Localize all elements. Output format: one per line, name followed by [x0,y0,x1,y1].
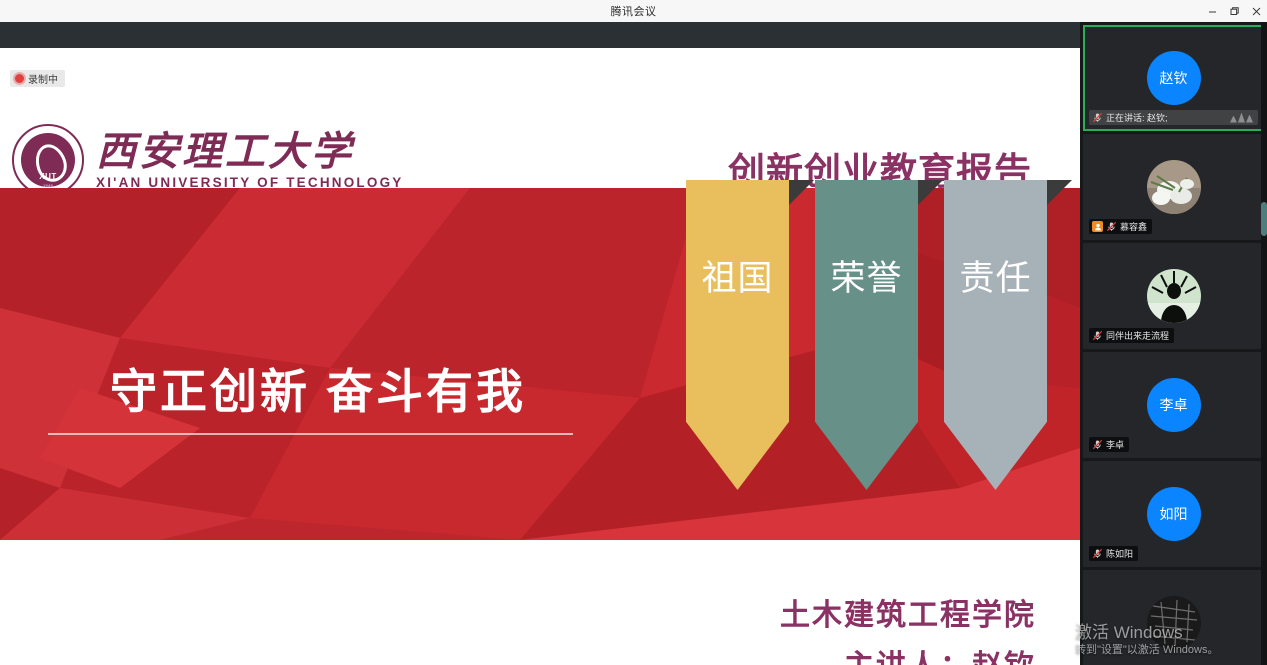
university-name-block: 西安理工大学 XI'AN UNIVERSITY OF TECHNOLOGY [96,131,403,190]
mic-muted-icon [1092,439,1103,450]
participant-label: 同伴出来走流程 [1106,329,1169,342]
participant-tile-partial[interactable] [1083,570,1264,665]
organization-name: 土木建筑工程学院 [780,590,1036,634]
participant-label: 正在讲话: 赵钦; [1106,111,1168,124]
avatar: 如阳 [1147,487,1201,541]
avatar-photo-dark [1147,596,1201,650]
avatar-photo-silhouette [1147,269,1201,323]
ribbon-label: 责任 [944,254,1047,305]
window-controls [1201,0,1267,22]
seal-year: 1949 [14,183,82,188]
participant-name-bar: 陈如阳 [1089,546,1138,561]
stage-top-strip [0,22,1080,48]
participant-tile-tongban[interactable]: 同伴出来走流程 [1083,243,1264,349]
presentation-slide: XUT 1949 西安理工大学 XI'AN UNIVERSITY OF TECH… [0,48,1080,665]
university-seal-icon: XUT 1949 [12,124,84,196]
shared-screen-stage[interactable]: 录制中 XUT 1949 西安理工大学 XI'AN UNIVERSITY OF … [0,22,1080,665]
ribbon-rongyu: 荣誉 [815,180,918,490]
university-name-cn: 西安理工大学 [96,131,403,173]
university-logo: XUT 1949 西安理工大学 XI'AN UNIVERSITY OF TECH… [12,124,403,196]
avatar-photo-flowers [1147,160,1201,214]
minimize-button[interactable] [1201,0,1223,22]
ribbon-body [686,180,789,490]
participant-filmstrip[interactable]: 赵钦 正在讲话: 赵钦; [1080,22,1267,665]
avatar: 赵钦 [1147,51,1201,105]
participant-label: 陈如阳 [1106,547,1133,560]
slogan-underline [48,433,573,435]
close-button[interactable] [1245,0,1267,22]
participant-label: 慕容鑫 [1120,220,1147,233]
participant-name-bar: 同伴出来走流程 [1089,328,1174,343]
avatar [1147,269,1201,323]
ribbon-body [815,180,918,490]
ribbon-body [944,180,1047,490]
ribbon-label: 祖国 [686,254,789,305]
recording-indicator: 录制中 [10,70,65,87]
ribbon-zeren: 责任 [944,180,1047,490]
avatar [1147,160,1201,214]
scrollbar-thumb[interactable] [1261,202,1267,236]
speaker-name: 主讲人：赵钦 [844,641,1036,665]
tencent-meeting-window: 腾讯会议 录制中 [0,0,1267,665]
window-title: 腾讯会议 [611,3,657,19]
participant-label: 李卓 [1106,438,1124,451]
slide-slogan: 守正创新 奋斗有我 [110,353,526,422]
participant-name-bar: 李卓 [1089,437,1129,452]
ribbon-label: 荣誉 [815,254,918,305]
slide-footer: 土木建筑工程学院 主讲人：赵钦 [0,540,1080,665]
mic-muted-icon [1106,221,1117,232]
host-badge-icon [1092,221,1103,232]
recording-label: 录制中 [28,71,58,86]
filmstrip-scrollbar[interactable] [1261,22,1267,665]
mic-muted-icon [1092,548,1103,559]
participant-tile-chenruyang[interactable]: 如阳 陈如阳 [1083,461,1264,567]
ribbon-zuguo: 祖国 [686,180,789,490]
participant-name-bar: 正在讲话: 赵钦; [1089,110,1258,125]
restore-button[interactable] [1223,0,1245,22]
participant-name-bar: 慕容鑫 [1089,219,1152,234]
participant-tile-murongxin[interactable]: 慕容鑫 [1083,134,1264,240]
window-title-bar: 腾讯会议 [0,0,1267,22]
record-dot-icon [15,74,24,83]
mic-muted-icon [1092,112,1103,123]
participant-tile-lizhuo[interactable]: 李卓 李卓 [1083,352,1264,458]
avatar: 李卓 [1147,378,1201,432]
participant-tile-zhaoqin[interactable]: 赵钦 正在讲话: 赵钦; [1083,25,1264,131]
slide-red-band: 守正创新 奋斗有我 [0,188,1080,540]
seal-initials: XUT [14,172,82,181]
mic-muted-icon [1092,330,1103,341]
participant-tiles: 赵钦 正在讲话: 赵钦; [1080,22,1267,665]
avatar [1147,596,1201,650]
speaking-wave-icon [1230,113,1253,123]
